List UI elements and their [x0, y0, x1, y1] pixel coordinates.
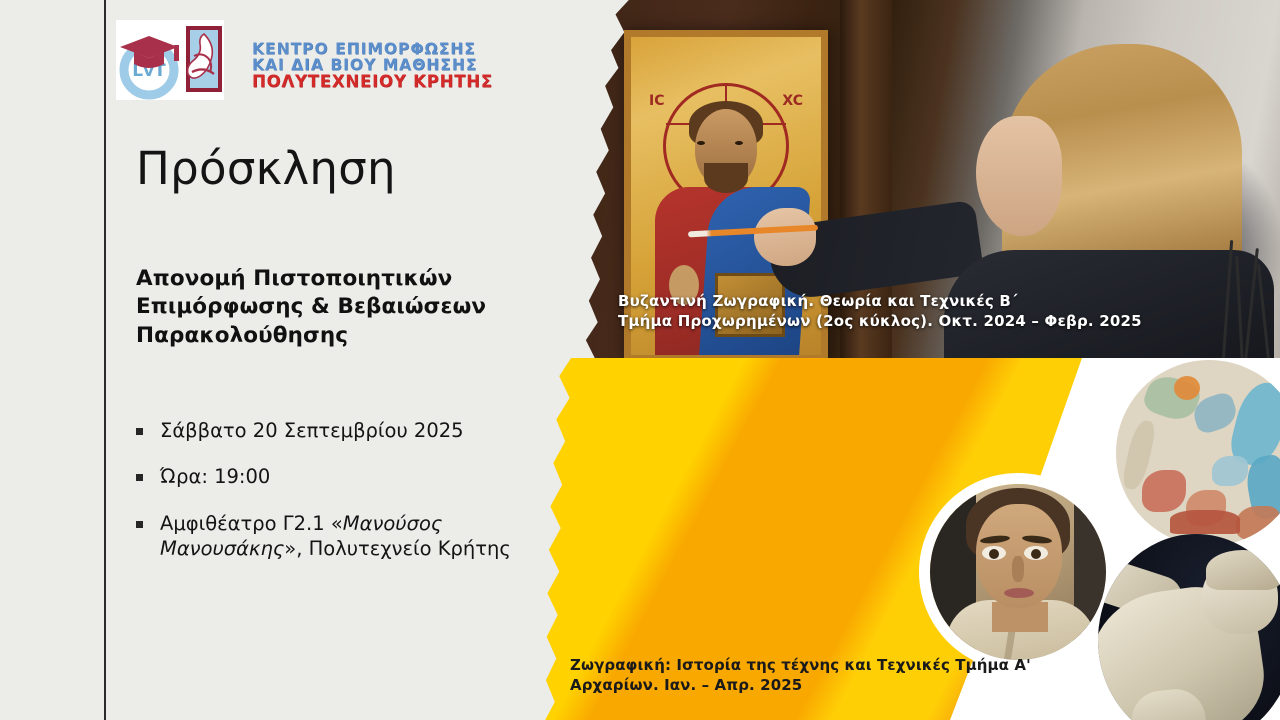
list-item: Σάββατο 20 Σεπτεμβρίου 2025: [136, 418, 556, 443]
minoan-fresco-circle: [1116, 360, 1280, 546]
bottom-caption-line-1: Ζωγραφική: Ιστορία της τέχνης και Τεχνικ…: [570, 655, 1090, 676]
top-caption-line-1: Βυζαντινή Ζωγραφική. Θεωρία και Τεχνικές…: [618, 291, 1218, 312]
venue-prefix: Αμφιθέατρο Γ2.1 «: [160, 512, 343, 535]
list-item: Αμφιθέατρο Γ2.1 «Μανούσος Μανουσάκης», Π…: [136, 511, 556, 562]
detail-date: Σάββατο 20 Σεπτεμβρίου 2025: [160, 418, 464, 443]
top-photo-caption: Βυζαντινή Ζωγραφική. Θεωρία και Τεχνικές…: [618, 291, 1218, 332]
event-details-list: Σάββατο 20 Σεπτεμβρίου 2025 Ώρα: 19:00 Α…: [136, 418, 556, 582]
brush-stick: [1235, 256, 1243, 358]
fresco-shape: [1170, 510, 1240, 534]
statue-hair: [1206, 550, 1280, 590]
icon-letters-left: IC: [649, 93, 664, 109]
portrait-pupil-left: [989, 549, 999, 559]
brush-holder: [1220, 236, 1278, 358]
organization-logo-block: LvT ΚΕΝΤΡΟ ΕΠΙΜΟΡΦΩΣΗΣ ΚΑΙ ΔΙΑ ΒΙΟΥ ΜΑΘΗ…: [116, 20, 496, 104]
logo-line-3: ΠΟΛΥΤΕΧΝΕΙΟΥ ΚΡΗΤΗΣ: [252, 74, 502, 91]
page-title: Πρόσκληση: [136, 142, 396, 195]
brush-stick: [1222, 240, 1233, 358]
portrait-pupil-right: [1031, 549, 1041, 559]
portrait-lips: [1004, 588, 1034, 598]
christ-beard: [704, 163, 748, 193]
event-subtitle: Απονομή Πιστοποιητικών Επιμόρφωσης & Βεβ…: [136, 265, 556, 350]
fresco-shape: [1142, 470, 1186, 512]
bullet-square-icon: [136, 474, 143, 481]
fresco-shape: [1174, 376, 1200, 400]
venue-suffix: », Πολυτεχνείο Κρήτης: [284, 537, 511, 560]
byzantine-icon-painting-photo: IC XC: [540, 0, 1280, 358]
bullet-square-icon: [136, 521, 143, 528]
list-item: Ώρα: 19:00: [136, 464, 556, 489]
painter-hand: [754, 208, 816, 266]
art-history-collage-panel: Ζωγραφική: Ιστορία της τέχνης και Τεχνικ…: [540, 358, 1280, 720]
bottom-caption-line-2: Αρχαρίων. Ιαν. – Απρ. 2025: [570, 675, 1090, 696]
left-vertical-divider: [104, 0, 106, 720]
invitation-slide: LvT ΚΕΝΤΡΟ ΕΠΙΜΟΡΦΩΣΗΣ ΚΑΙ ΔΙΑ ΒΙΟΥ ΜΑΘΗ…: [0, 0, 1280, 720]
top-caption-line-2: Τμήμα Προχωρημένων (2ος κύκλος). Οκτ. 20…: [618, 311, 1218, 332]
brush-stick: [1257, 264, 1270, 358]
fayum-portrait-circle: [930, 484, 1106, 660]
marble-statue-circle: [1098, 534, 1280, 720]
fresco-shape: [1212, 456, 1248, 486]
christ-eye-right: [735, 141, 743, 145]
bottom-panel-caption: Ζωγραφική: Ιστορία της τέχνης και Τεχνικ…: [570, 655, 1090, 696]
icon-letters-right: XC: [782, 93, 803, 109]
christ-eye-left: [697, 141, 705, 145]
ktp-crete-logo-icon: LvT: [116, 20, 224, 100]
bullet-square-icon: [136, 428, 143, 435]
media-column: IC XC: [540, 0, 1280, 720]
detail-venue: Αμφιθέατρο Γ2.1 «Μανούσος Μανουσάκης», Π…: [160, 511, 556, 562]
organization-name: ΚΕΝΤΡΟ ΕΠΙΜΟΡΦΩΣΗΣ ΚΑΙ ΔΙΑ ΒΙΟΥ ΜΑΘΗΣΗΣ …: [252, 42, 502, 90]
painter-face-profile: [976, 116, 1062, 236]
portrait-nose: [1012, 556, 1024, 582]
detail-time: Ώρα: 19:00: [160, 464, 270, 489]
